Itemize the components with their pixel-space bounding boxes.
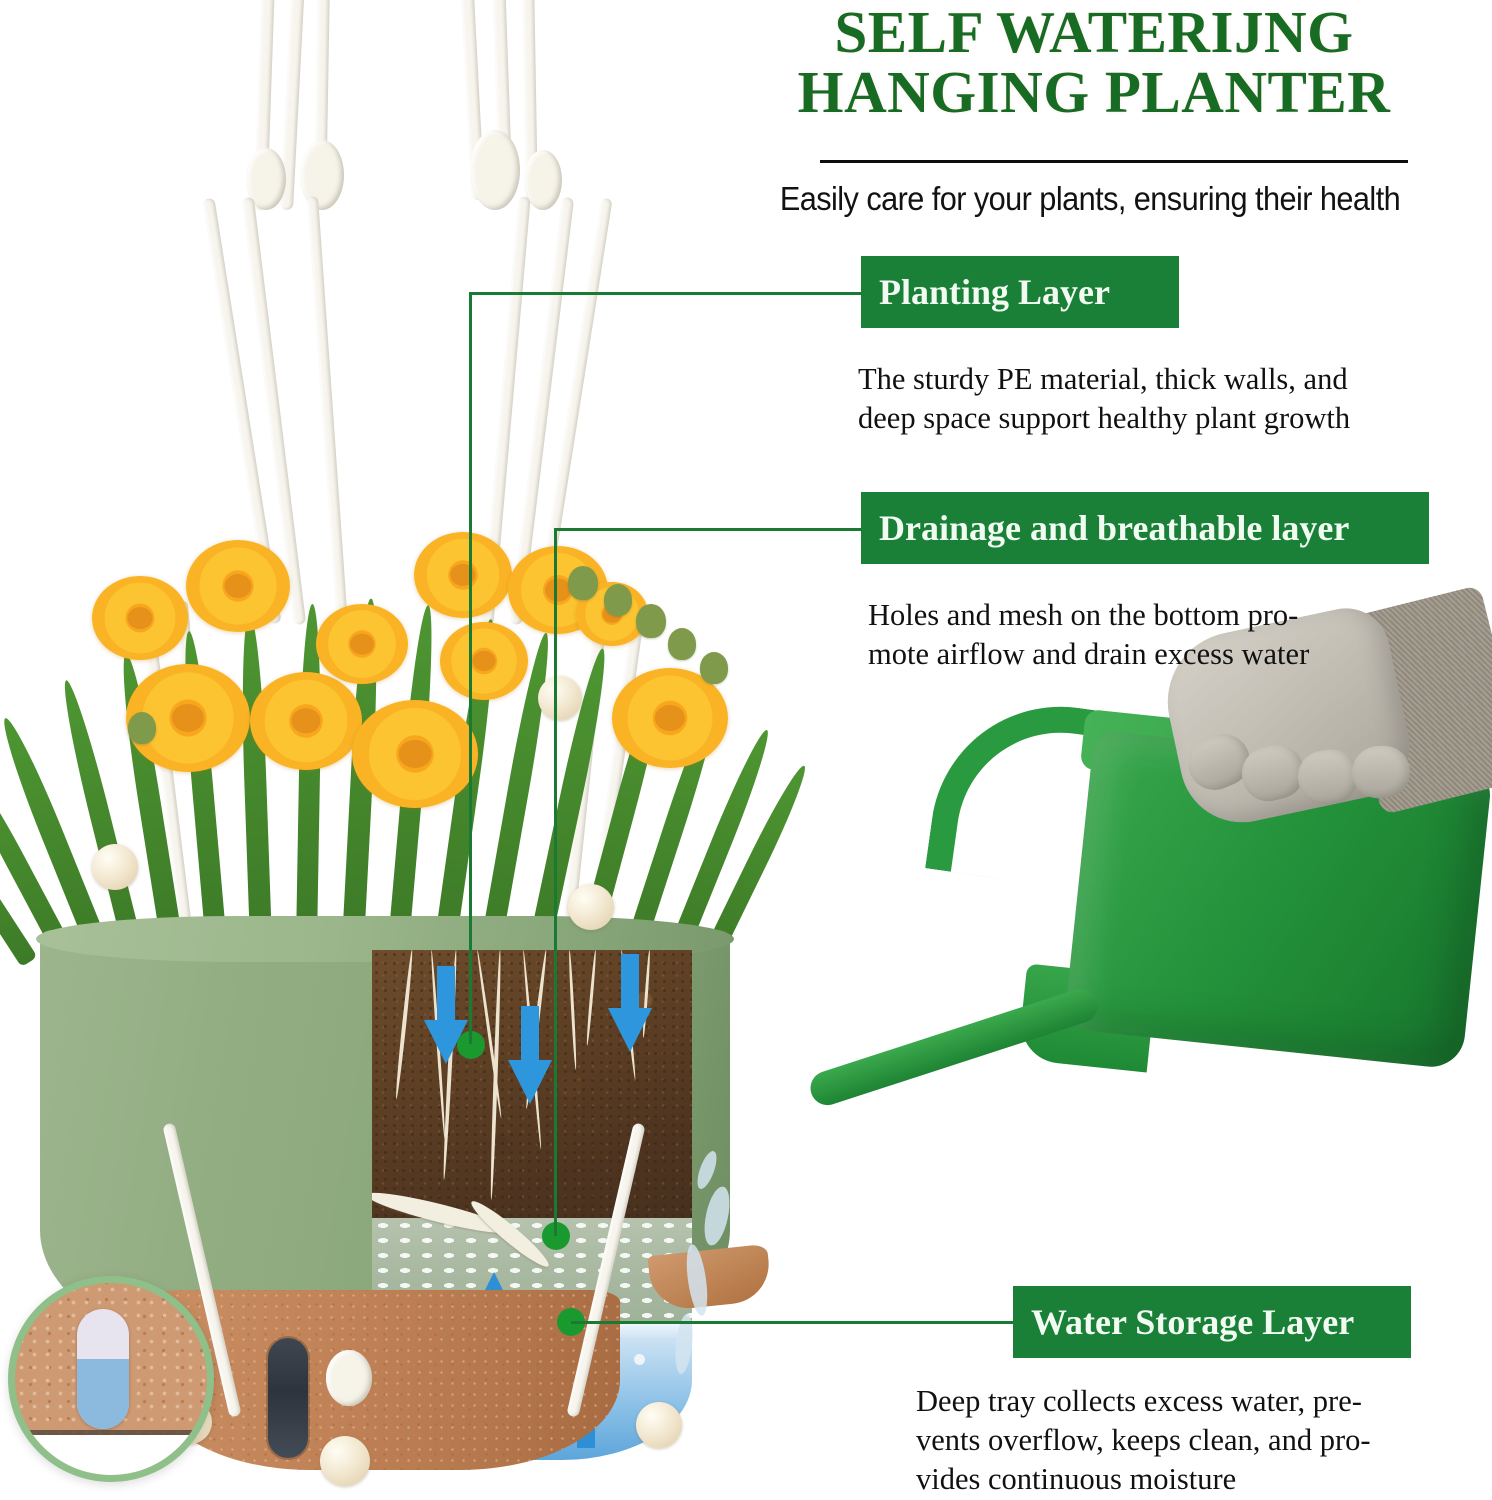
page-subtitle: Easily care for your plants, ensuring th… <box>718 180 1462 218</box>
callout-body-water-storage-layer: Deep tray collects excess water, pre- ve… <box>916 1382 1482 1499</box>
water-level-indicator <box>268 1338 308 1458</box>
macrame-knot <box>326 1350 372 1406</box>
water-bubble <box>634 1354 645 1365</box>
flower <box>414 532 512 618</box>
callout-water-storage-layer: Water Storage Layer <box>1013 1286 1411 1358</box>
wooden-bead <box>636 1402 682 1448</box>
flower <box>186 540 290 632</box>
leader-line-horizontal-drainage <box>554 528 861 531</box>
leader-line-horizontal-planting <box>469 292 861 295</box>
title-line-2: HANGING PLANTER <box>700 62 1488 122</box>
wooden-bead <box>320 1436 370 1486</box>
leader-line-vertical-drainage <box>554 528 557 1236</box>
magnifier-base <box>15 1435 207 1475</box>
callout-body-line: mote airflow and drain excess water <box>868 635 1468 674</box>
level-gauge-water <box>77 1359 129 1429</box>
infographic-canvas: SELF WATERIJNG HANGING PLANTER Easily ca… <box>0 0 1492 1500</box>
rope-strand <box>307 196 348 626</box>
wooden-bead <box>92 844 138 890</box>
flower <box>352 700 478 808</box>
title-line-1: SELF WATERIJNG <box>700 2 1488 62</box>
water-level-magnifier <box>8 1276 214 1482</box>
fill-spout <box>647 1244 772 1312</box>
callout-body-line: deep space support healthy plant growth <box>858 399 1470 438</box>
callout-body-drainage-layer: Holes and mesh on the bottom pro- mote a… <box>868 596 1468 674</box>
callout-body-line: vides continuous moisture <box>916 1460 1482 1499</box>
flower <box>92 576 188 660</box>
flower <box>440 622 528 700</box>
flower <box>316 604 408 684</box>
leaf-blade <box>238 614 272 945</box>
callout-label-planting-layer[interactable]: Planting Layer <box>861 256 1179 328</box>
flower-bud <box>636 604 666 638</box>
level-gauge <box>77 1309 129 1429</box>
flower-bud <box>568 566 598 600</box>
water-flow-arrow-down <box>621 954 639 1010</box>
callout-label-water-storage-layer[interactable]: Water Storage Layer <box>1013 1286 1411 1358</box>
water-flow-arrow-down <box>521 1006 539 1062</box>
callout-body-line: Holes and mesh on the bottom pro- <box>868 596 1468 635</box>
title-divider <box>820 160 1408 163</box>
watering-can-scene <box>760 600 1492 1280</box>
callout-body-planting-layer: The sturdy PE material, thick walls, and… <box>858 360 1470 438</box>
callout-body-line: Deep tray collects excess water, pre- <box>916 1382 1482 1421</box>
callout-drainage-layer: Drainage and breathable layer <box>861 492 1429 564</box>
callout-label-drainage-layer[interactable]: Drainage and breathable layer <box>861 492 1429 564</box>
water-flow-arrow-down <box>608 1008 652 1052</box>
flower-bud <box>128 712 156 744</box>
callout-planting-layer: Planting Layer <box>861 256 1179 328</box>
callout-body-line: vents overflow, keeps clean, and pro- <box>916 1421 1482 1460</box>
callout-body-line: The sturdy PE material, thick walls, and <box>858 360 1470 399</box>
water-flow-arrow-down <box>508 1060 552 1104</box>
leader-line-vertical-planting <box>469 292 472 1044</box>
flower-bud <box>700 652 728 684</box>
macrame-knot <box>470 130 520 210</box>
wooden-bead <box>568 884 614 930</box>
flower-bud <box>668 628 696 660</box>
water-flow-arrow-down <box>437 966 455 1022</box>
page-title: SELF WATERIJNG HANGING PLANTER <box>700 2 1488 122</box>
flower <box>250 672 362 770</box>
wooden-bead <box>538 676 582 720</box>
leader-line-horizontal-water-storage <box>571 1321 1013 1324</box>
flower-bud <box>604 584 632 616</box>
